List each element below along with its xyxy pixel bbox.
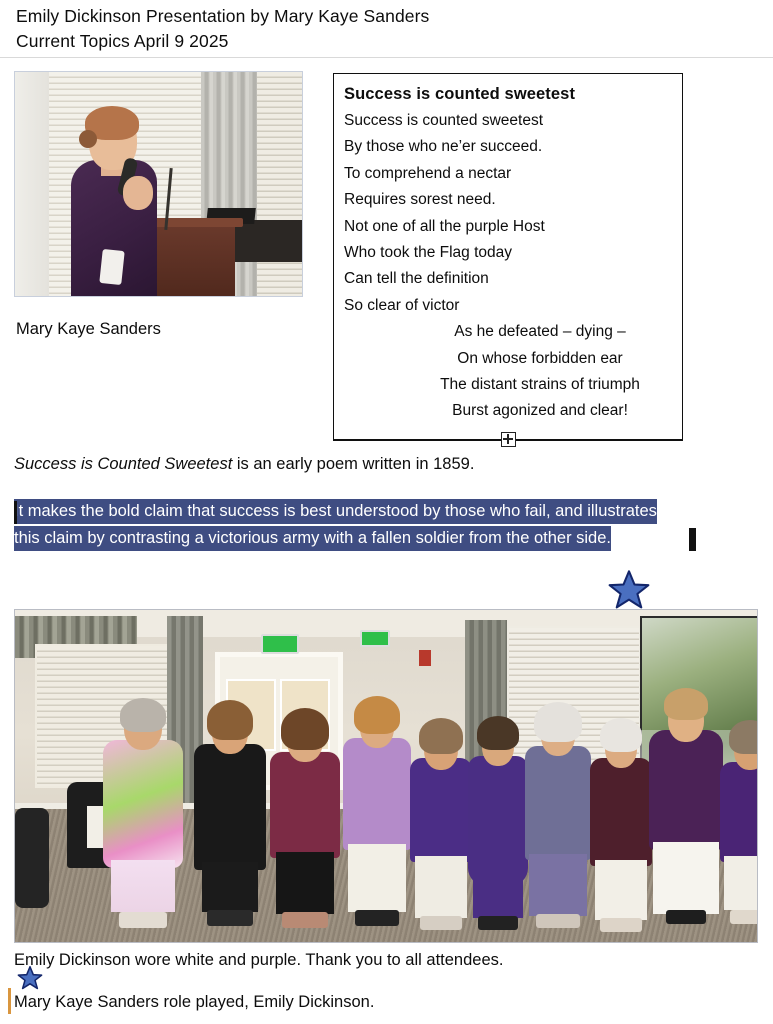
selection-end-caret xyxy=(689,528,696,551)
poem-line: To comprehend a nectar xyxy=(344,161,682,187)
exit-sign-icon xyxy=(360,630,390,647)
poem-line: Who took the Flag today xyxy=(344,240,682,266)
paragraph-intro: Success is Counted Sweetest is an early … xyxy=(14,452,474,476)
poem-line-indented: Burst agonized and clear! xyxy=(334,398,682,424)
selected-line-2: this claim by contrasting a victorious a… xyxy=(14,526,611,551)
fire-alarm-icon xyxy=(419,650,431,666)
paragraph-intro-rest: is an early poem written in 1859. xyxy=(232,455,474,473)
speaker-cuff xyxy=(99,249,124,285)
revision-change-bar xyxy=(8,988,11,1014)
person xyxy=(191,672,269,934)
selected-line-1-row: It makes the bold claim that success is … xyxy=(14,498,754,525)
poem-line: So clear of victor xyxy=(344,293,682,319)
header-title-line1: Emily Dickinson Presentation by Mary Kay… xyxy=(16,4,756,29)
poem-line-indented: The distant strains of triumph xyxy=(334,372,682,398)
person xyxy=(267,676,343,934)
speaker-hair-bun xyxy=(79,130,97,148)
group-photo[interactable] xyxy=(14,609,758,943)
person xyxy=(101,676,185,934)
role-play-caption: Mary Kaye Sanders role played, Emily Dic… xyxy=(14,990,374,1014)
person xyxy=(341,672,413,934)
poem-line: Can tell the definition xyxy=(344,266,682,292)
poem-line-indented: As he defeated – dying – xyxy=(334,319,682,345)
window-right xyxy=(257,72,302,296)
selected-line-2-row: this claim by contrasting a victorious a… xyxy=(14,525,754,552)
selected-line-1: It makes the bold claim that success is … xyxy=(14,499,657,524)
poem-box-bottom-border-right xyxy=(516,439,683,441)
poem-line: Success is counted sweetest xyxy=(344,108,682,134)
poem-line: By those who ne’er succeed. xyxy=(344,134,682,160)
wall-left xyxy=(15,72,49,296)
header-title-line2: Current Topics April 9 2025 xyxy=(16,29,756,54)
speaker-hand xyxy=(123,176,153,210)
exit-sign-icon xyxy=(261,634,299,654)
person xyxy=(717,682,758,934)
poem-title-italic: Success is Counted Sweetest xyxy=(14,455,232,473)
document-page: Emily Dickinson Presentation by Mary Kay… xyxy=(0,0,773,1024)
selection-start-caret xyxy=(14,501,17,524)
resize-plus-handle-icon[interactable] xyxy=(501,432,516,447)
document-header: Emily Dickinson Presentation by Mary Kay… xyxy=(16,4,756,54)
group-photo-caption: Emily Dickinson wore white and purple. T… xyxy=(14,948,503,972)
stacked-chair xyxy=(15,808,49,908)
poem-line: Requires sorest need. xyxy=(344,187,682,213)
speaker-photo-caption: Mary Kaye Sanders xyxy=(16,318,161,340)
poem-title: Success is counted sweetest xyxy=(344,85,682,104)
poem-line-indented: On whose forbidden ear xyxy=(334,346,682,372)
poem-text-box[interactable]: Success is counted sweetest Success is c… xyxy=(333,73,683,440)
blue-star-icon xyxy=(597,570,661,610)
selected-paragraph[interactable]: It makes the bold claim that success is … xyxy=(14,498,754,552)
person xyxy=(465,680,531,934)
poem-box-bottom-border-left xyxy=(333,439,501,441)
blue-star-icon xyxy=(13,966,47,990)
person xyxy=(645,670,727,934)
person xyxy=(523,676,593,934)
header-divider xyxy=(0,57,773,58)
poem-line: Not one of all the purple Host xyxy=(344,214,682,240)
speaker-photo[interactable] xyxy=(14,71,303,297)
